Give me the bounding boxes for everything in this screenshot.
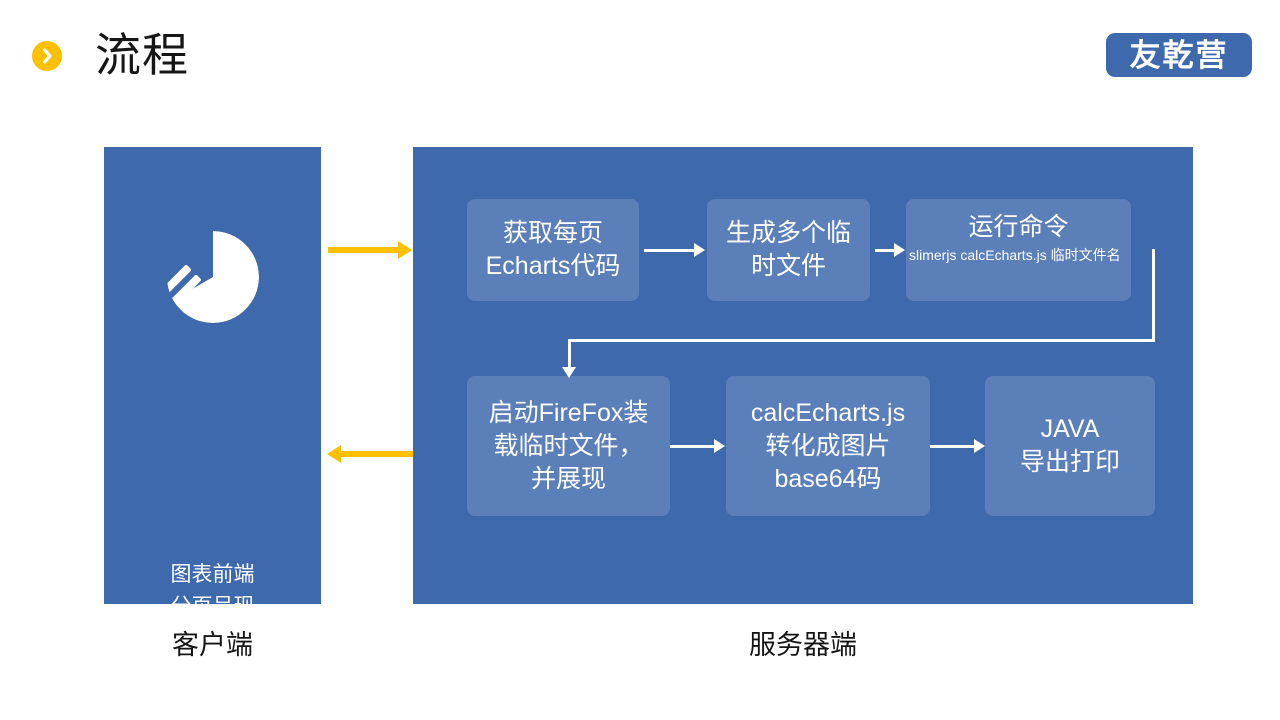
brand-logo-text: 友乾营 — [1130, 40, 1229, 71]
process-box-java[interactable]: JAVA 导出打印 — [985, 376, 1155, 516]
process-box-get-code-label: 获取每页 Echarts代码 — [486, 217, 621, 283]
page-title: 流程 — [95, 22, 189, 88]
process-box-firefox[interactable]: 启动FireFox装 载临时文件， 并展现 — [467, 376, 670, 516]
process-box-java-label: JAVA 导出打印 — [1020, 413, 1120, 479]
client-panel-label: 图表前端 分页呈现 — [104, 559, 321, 623]
process-box-run-command-subtext: slimerjs calcEcharts.js 临时文件名 — [895, 246, 1142, 265]
process-box-calcecharts[interactable]: calcEcharts.js 转化成图片 base64码 — [726, 376, 930, 516]
chevron-right-circle-icon — [32, 41, 62, 71]
process-box-firefox-label: 启动FireFox装 载临时文件， 并展现 — [489, 397, 649, 496]
caption-server: 服务器端 — [413, 625, 1193, 665]
process-box-calcecharts-label: calcEcharts.js 转化成图片 base64码 — [751, 397, 905, 496]
process-box-temp-files-label: 生成多个临 时文件 — [726, 217, 851, 283]
caption-client: 客户端 — [104, 625, 321, 665]
slide-header: 流程 友乾营 — [0, 0, 1280, 110]
pie-chart-icon — [163, 227, 263, 327]
process-box-get-code[interactable]: 获取每页 Echarts代码 — [467, 199, 639, 301]
process-box-temp-files[interactable]: 生成多个临 时文件 — [707, 199, 870, 301]
process-box-run-command[interactable]: 运行命令 slimerjs calcEcharts.js 临时文件名 — [906, 199, 1131, 301]
brand-logo: 友乾营 — [1106, 33, 1252, 77]
client-panel: 图表前端 分页呈现 — [104, 147, 321, 604]
process-box-run-command-label: 运行命令 — [968, 211, 1068, 244]
server-panel: 获取每页 Echarts代码 生成多个临 时文件 运行命令 slimerjs c… — [413, 147, 1193, 604]
